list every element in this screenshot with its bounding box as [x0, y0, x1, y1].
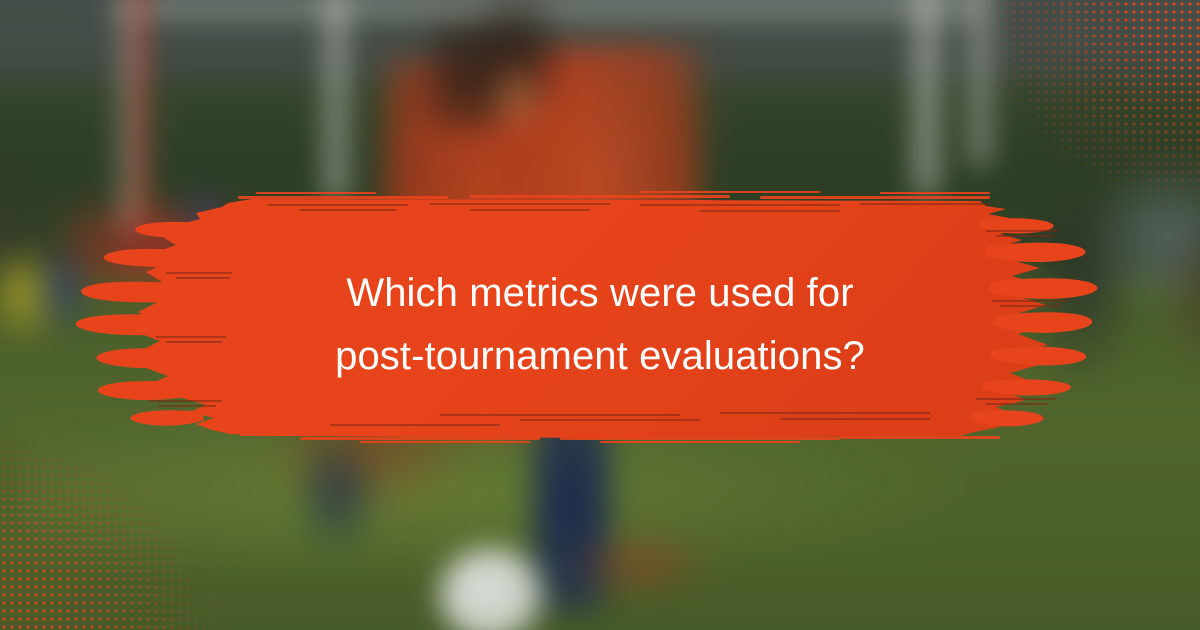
question-headline: Which metrics were used forpost-tourname…: [0, 262, 1200, 388]
brush-top-streaks: [238, 191, 990, 203]
headline-line-1: Which metrics were used for: [346, 271, 853, 315]
headline-line-2: post-tournament evaluations?: [335, 334, 865, 378]
share-card-canvas: Which metrics were used forpost-tourname…: [0, 0, 1200, 630]
